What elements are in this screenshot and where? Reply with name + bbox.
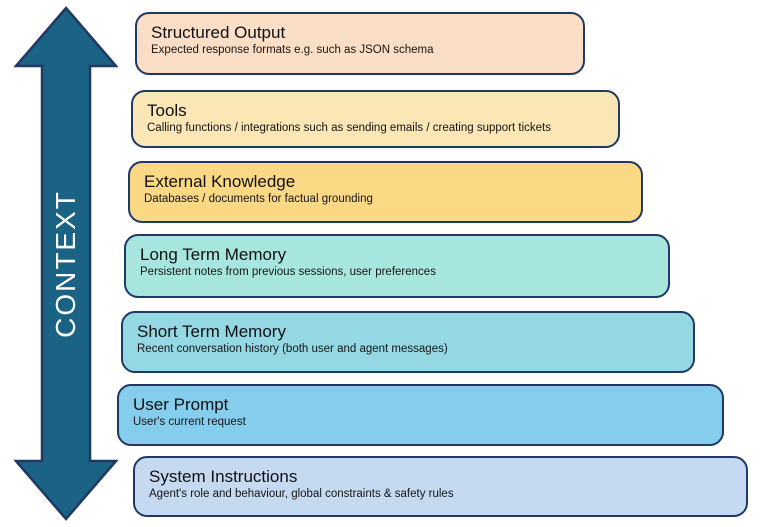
layer-title: User Prompt <box>133 395 722 415</box>
layer-tools[interactable]: Tools Calling functions / integrations s… <box>131 90 620 148</box>
layer-description: Calling functions / integrations such as… <box>147 122 618 136</box>
layer-title: External Knowledge <box>144 172 641 192</box>
layer-description: Databases / documents for factual ground… <box>144 193 641 207</box>
layer-title: Long Term Memory <box>140 245 668 265</box>
layer-long-term-memory[interactable]: Long Term Memory Persistent notes from p… <box>124 234 670 298</box>
layer-title: Tools <box>147 101 618 121</box>
double-headed-arrow-icon <box>14 6 118 521</box>
layer-structured-output[interactable]: Structured Output Expected response form… <box>135 12 585 75</box>
layer-description: Agent's role and behaviour, global const… <box>149 488 746 502</box>
arrow-shape <box>16 8 116 519</box>
layer-external-knowledge[interactable]: External Knowledge Databases / documents… <box>128 161 643 223</box>
layer-description: Persistent notes from previous sessions,… <box>140 266 668 280</box>
layer-user-prompt[interactable]: User Prompt User's current request <box>117 384 724 446</box>
layer-description: Recent conversation history (both user a… <box>137 343 693 357</box>
layer-system-instructions[interactable]: System Instructions Agent's role and beh… <box>133 456 748 517</box>
layer-title: Structured Output <box>151 23 583 43</box>
layer-title: System Instructions <box>149 467 746 487</box>
diagram-canvas: CONTEXT Structured Output Expected respo… <box>0 0 768 527</box>
context-axis-arrow: CONTEXT <box>14 6 118 521</box>
layer-title: Short Term Memory <box>137 322 693 342</box>
layer-short-term-memory[interactable]: Short Term Memory Recent conversation hi… <box>121 311 695 373</box>
layer-description: User's current request <box>133 416 722 430</box>
layer-description: Expected response formats e.g. such as J… <box>151 44 583 58</box>
